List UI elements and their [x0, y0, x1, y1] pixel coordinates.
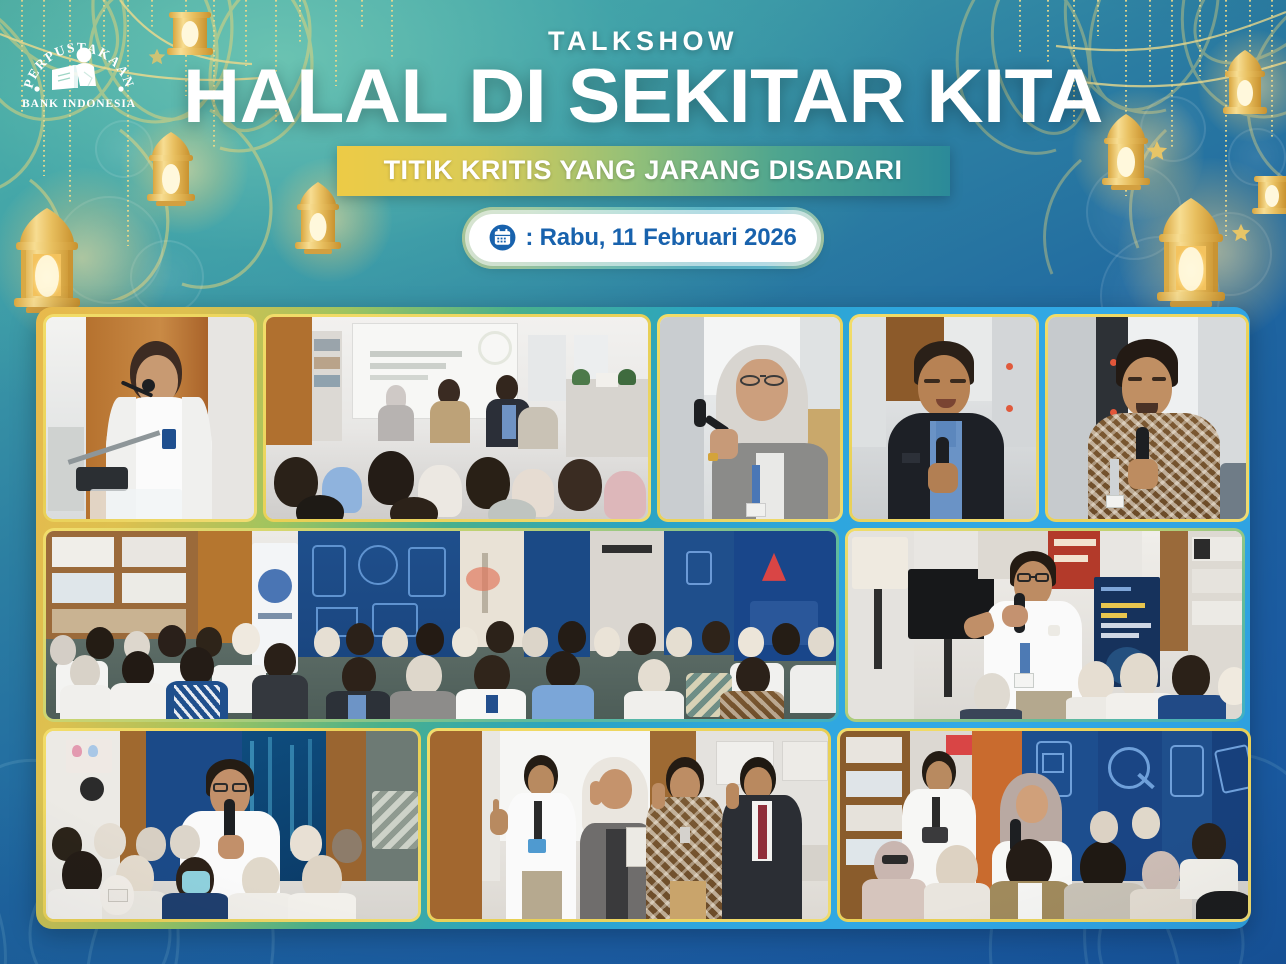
subtitle-band: TITIK KRITIS YANG JARANG DISADARI	[337, 146, 950, 196]
gallery-photo-tile	[43, 314, 257, 522]
gallery-photo-tile	[427, 728, 831, 922]
subtitle-text: TITIK KRITIS YANG JARANG DISADARI	[384, 155, 903, 186]
gallery-photo-tile	[845, 528, 1245, 722]
gallery-row	[43, 314, 1243, 522]
gallery-photo-tile	[43, 728, 421, 922]
date-badge: : Rabu, 11 Februari 2026	[469, 214, 817, 262]
logo-bottom-text: BANK INDONESIA	[22, 98, 136, 110]
gallery-photo-tile	[1045, 314, 1249, 522]
gallery-row	[43, 528, 1243, 722]
perpustakaan-bank-indonesia-logo: PERPUSTAKAAN BANK INDONESIA	[22, 28, 136, 112]
gallery-photo-tile	[43, 528, 839, 722]
gallery-photo-tile	[657, 314, 843, 522]
date-text: : Rabu, 11 Februari 2026	[525, 224, 796, 252]
calendar-icon	[489, 224, 516, 251]
gallery-photo-tile	[849, 314, 1039, 522]
poster-header: TALKSHOW HALAL DI SEKITAR KITA TITIK KRI…	[0, 26, 1286, 262]
gallery-row	[43, 728, 1243, 922]
photo-gallery-frame	[36, 307, 1250, 929]
page-title: HALAL DI SEKITAR KITA	[0, 61, 1286, 134]
eyebrow-label: TALKSHOW	[0, 26, 1286, 57]
poster-canvas: PERPUSTAKAAN BANK INDONESIA TALKSHOW HAL…	[0, 0, 1286, 964]
gallery-photo-tile	[263, 314, 651, 522]
gallery-photo-tile	[837, 728, 1251, 922]
